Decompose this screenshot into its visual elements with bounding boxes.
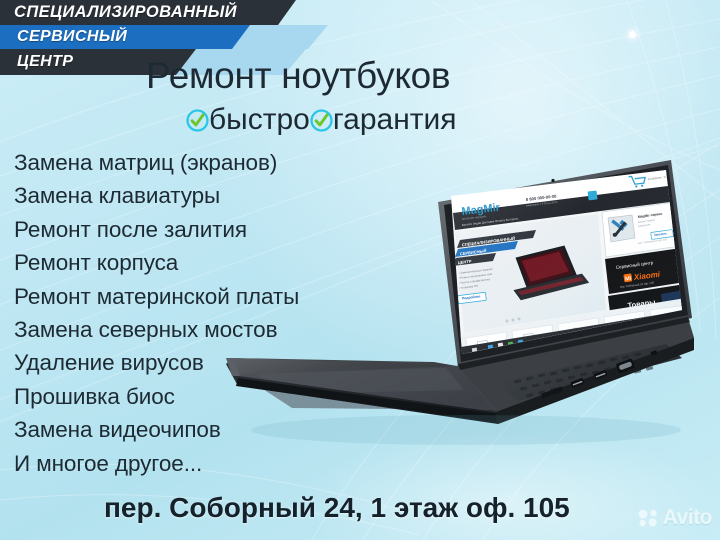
benefit-fast-label: быстро [209,103,310,137]
advertisement-banner: СПЕЦИАЛИЗИРОВАННЫЙ СЕРВИСНЫЙ ЦЕНТР Ремон… [0,0,720,540]
check-circle-icon [186,109,209,132]
list-item: Ремонт после залития [14,213,374,246]
list-item: Ремонт корпуса [14,246,374,279]
services-list: Замена матриц (экранов) Замена клавиатур… [14,146,374,480]
headline-benefits: быстро гарантия [186,103,457,137]
list-item: Замена клавиатуры [14,179,374,212]
list-item: Замена северных мостов [14,313,374,346]
check-circle-icon [310,109,333,132]
list-item: Замена матриц (экранов) [14,146,374,179]
list-item: Удаление вирусов [14,346,374,379]
address-line: пер. Соборный 24, 1 этаж оф. 105 [104,492,570,524]
ribbon-service: СЕРВИСНЫЙ [0,25,267,49]
ribbon-specialized: СПЕЦИАЛИЗИРОВАННЫЙ [0,0,310,25]
benefit-warranty-label: гарантия [333,103,457,137]
avito-watermark: Avito [638,506,712,530]
avito-logo-icon [638,509,660,527]
list-item: Замена видеочипов [14,413,374,446]
list-item: И многое другое... [14,447,374,480]
list-item: Ремонт материнской платы [14,280,374,313]
headline-title: Ремонт ноутбуков [146,55,566,97]
list-item: Прошивка биос [14,380,374,413]
background-highlight-dot [629,31,636,38]
avito-label: Avito [663,506,712,530]
